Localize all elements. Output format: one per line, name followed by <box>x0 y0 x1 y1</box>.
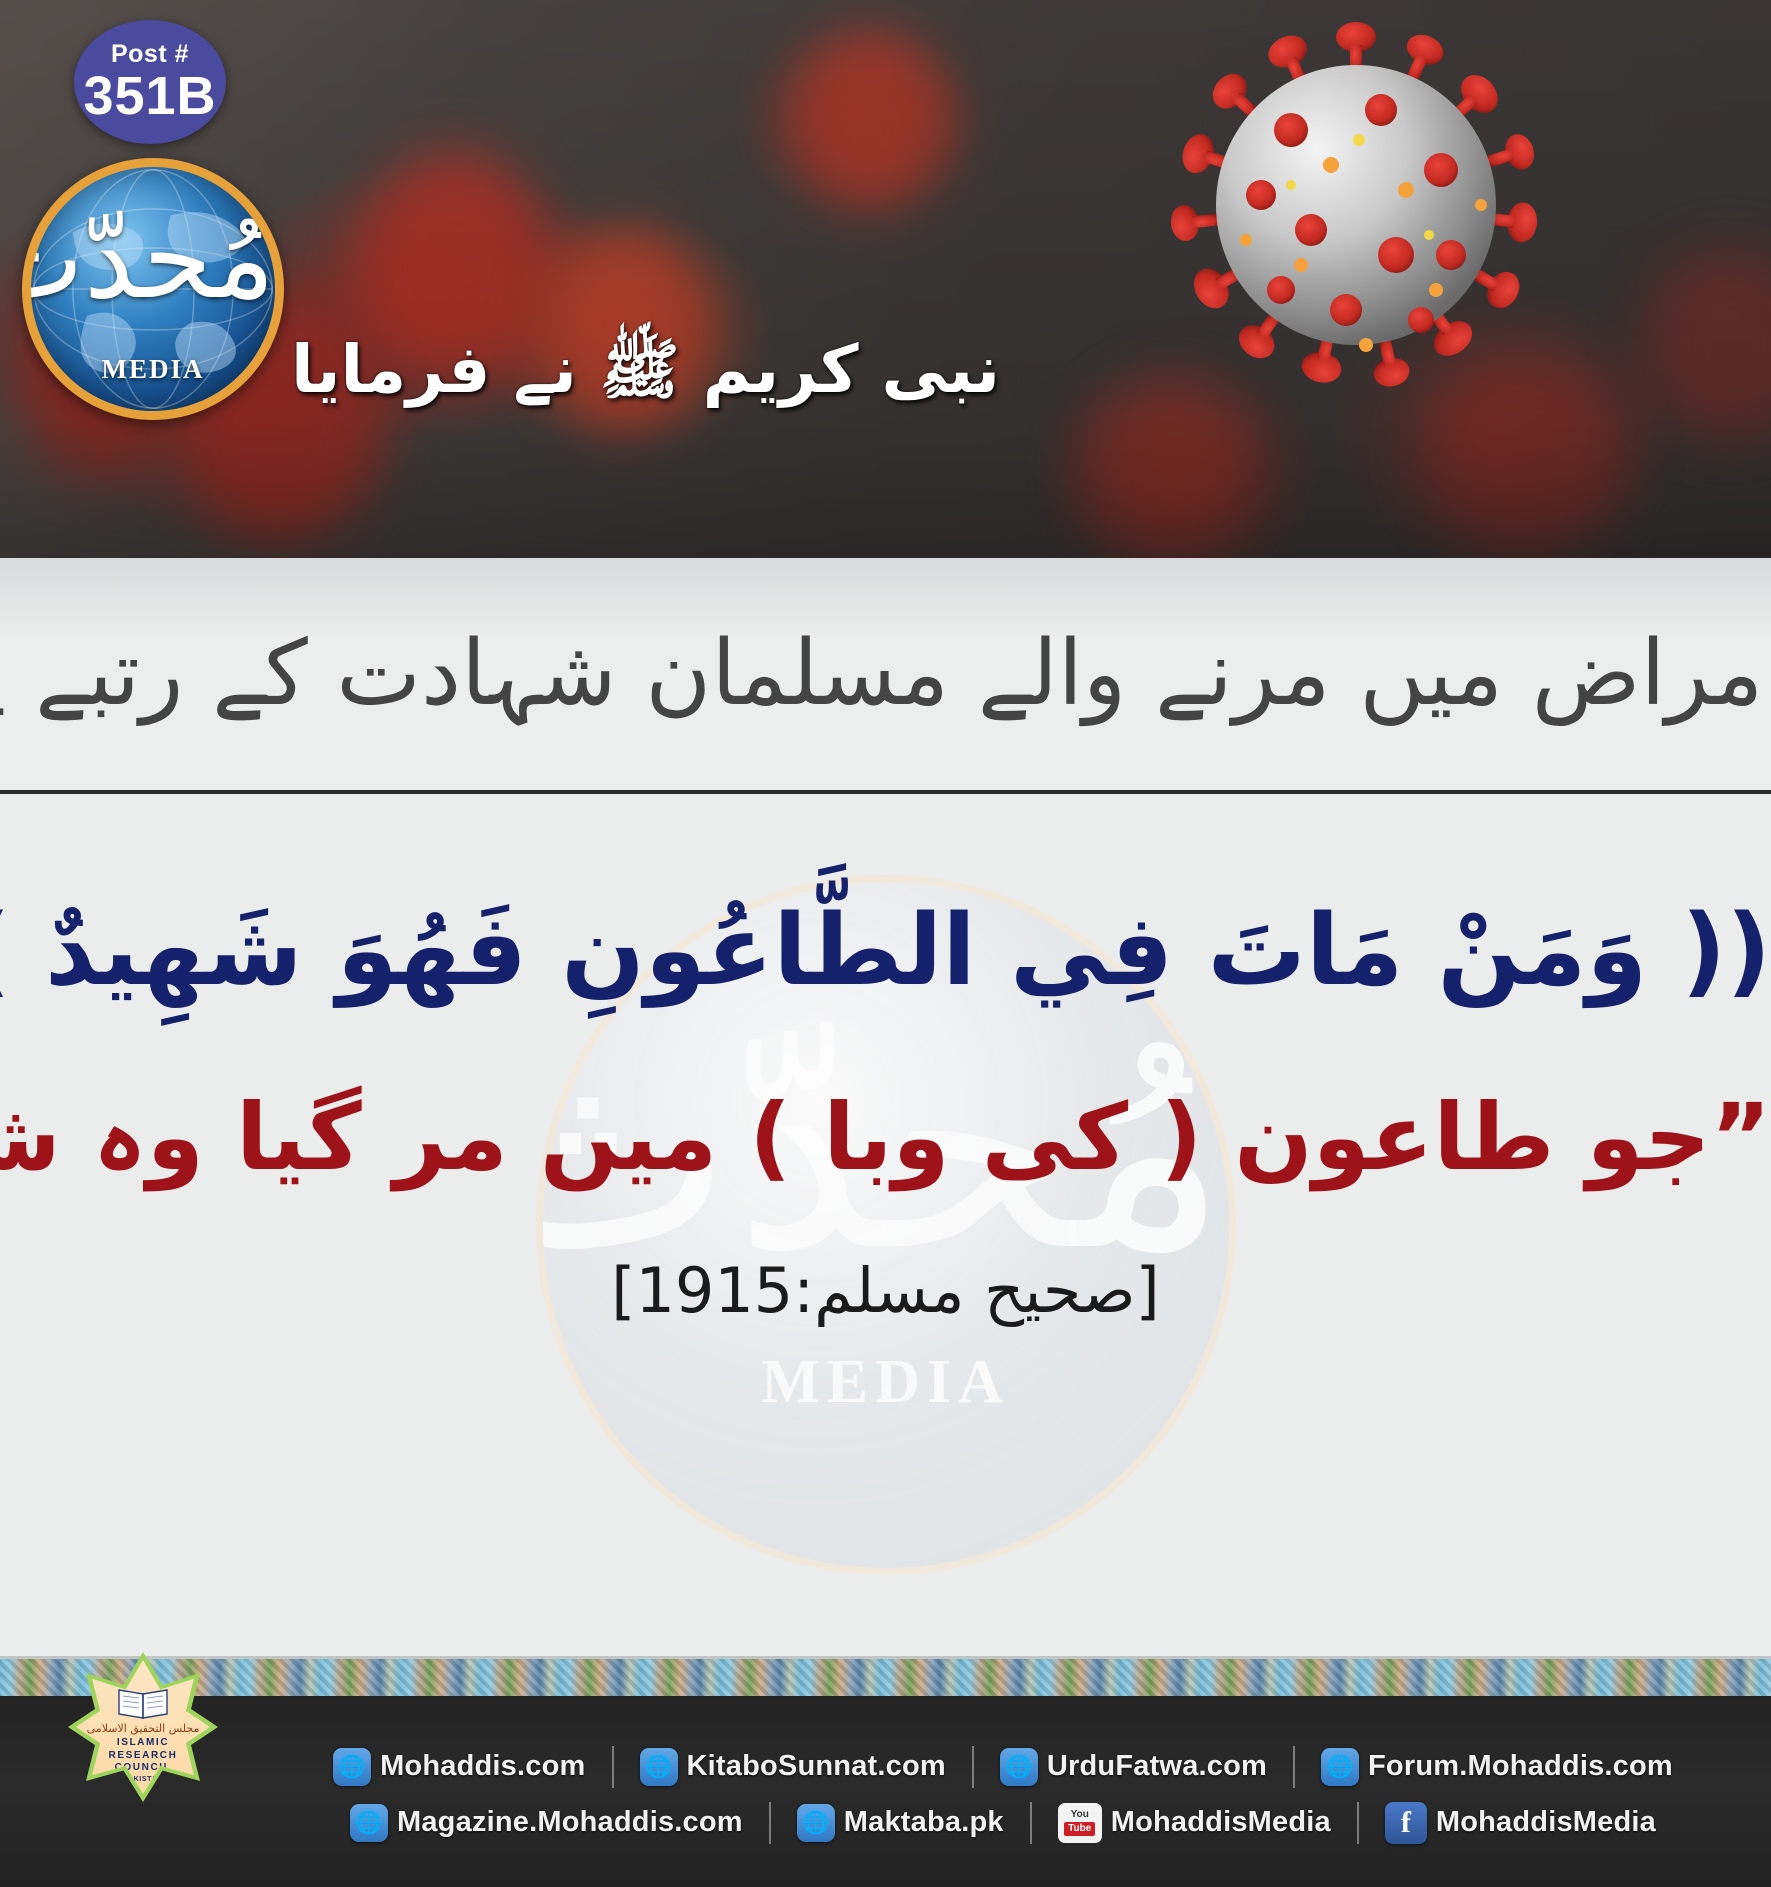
header-banner: Post # 351B مُحدّث <box>0 0 1771 558</box>
council-inner-panel: مجلس التحقیق الاسلامی ISLAMIC RESEARCH C… <box>76 1660 210 1794</box>
facebook-icon: f <box>1385 1802 1427 1844</box>
footer-link-label: Mohaddis.com <box>380 1750 585 1783</box>
footer-link-mohaddis[interactable]: 🌐 Mohaddis.com <box>307 1748 611 1786</box>
council-line-1: ISLAMIC <box>117 1737 169 1748</box>
footer-link-label: KitaboSunnat.com <box>687 1750 946 1783</box>
hadith-arabic-text: (( وَمَنْ مَاتَ فِي الطَّاعُونِ فَهُوَ ش… <box>0 894 1771 1008</box>
council-line-2: RESEARCH <box>109 1750 178 1761</box>
post-number-badge: Post # 351B <box>74 20 226 144</box>
logo-arabic-glyph: مُحدّث <box>31 203 275 315</box>
footer-link-facebook[interactable]: f MohaddisMedia <box>1359 1802 1682 1844</box>
globe-icon: 🌐 <box>640 1748 678 1786</box>
footer-link-urdufatwa[interactable]: 🌐 UrduFatwa.com <box>974 1748 1293 1786</box>
open-book-icon <box>115 1686 171 1720</box>
footer-link-row-1: 🌐 Mohaddis.com 🌐 KitaboSunnat.com 🌐 Urdu… <box>235 1746 1771 1788</box>
footer-link-label: Magazine.Mohaddis.com <box>397 1806 743 1839</box>
globe-icon: 🌐 <box>797 1804 835 1842</box>
footer-separator <box>972 1746 974 1788</box>
footer-link-label: MohaddisMedia <box>1111 1806 1331 1839</box>
globe-icon: 🌐 <box>1321 1748 1359 1786</box>
footer-link-label: UrduFatwa.com <box>1047 1750 1267 1783</box>
hadith-citation: [صحیح مسلم:1915] <box>0 1254 1771 1327</box>
youtube-icon-bottom: Tube <box>1064 1822 1095 1836</box>
council-arabic-name: مجلس التحقیق الاسلامی <box>87 1722 200 1735</box>
footer-separator <box>612 1746 614 1788</box>
footer-link-row-2: 🌐 Magazine.Mohaddis.com 🌐 Maktaba.pk You… <box>235 1802 1771 1844</box>
headline-strip: وبائی امراض میں مرنے والے مسلمان شہادت ک… <box>0 558 1771 794</box>
footer-link-label: MohaddisMedia <box>1436 1806 1656 1839</box>
youtube-icon: You Tube <box>1058 1803 1102 1843</box>
youtube-icon-top: You <box>1071 1810 1089 1820</box>
page-title: وبائی امراض میں مرنے والے مسلمان شہادت ک… <box>0 622 1771 726</box>
content-area: مُحدّث MEDIA (( وَمَنْ مَاتَ فِي الطَّاع… <box>0 794 1771 1656</box>
footer-link-label: Maktaba.pk <box>844 1806 1004 1839</box>
footer-separator <box>1293 1746 1295 1788</box>
footer-separator <box>769 1802 771 1844</box>
header-hadith-intro: نبی کریم ﷺ نے فرمایا <box>0 330 1771 425</box>
footer-link-label: Forum.Mohaddis.com <box>1368 1750 1673 1783</box>
post-number: 351B <box>83 69 216 123</box>
footer-links: 🌐 Mohaddis.com 🌐 KitaboSunnat.com 🌐 Urdu… <box>235 1696 1771 1887</box>
footer-link-forum[interactable]: 🌐 Forum.Mohaddis.com <box>1295 1748 1699 1786</box>
footer-bar: مجلس التحقیق الاسلامی ISLAMIC RESEARCH C… <box>0 1696 1771 1887</box>
footer-link-magazine[interactable]: 🌐 Magazine.Mohaddis.com <box>324 1804 769 1842</box>
virus-blur-blob <box>790 30 950 210</box>
globe-icon: 🌐 <box>1000 1748 1038 1786</box>
footer-link-maktaba[interactable]: 🌐 Maktaba.pk <box>771 1804 1030 1842</box>
footer-separator <box>1030 1802 1032 1844</box>
footer-link-kitabosunnat[interactable]: 🌐 KitaboSunnat.com <box>614 1748 972 1786</box>
post-label: Post # <box>111 42 189 67</box>
footer-link-youtube[interactable]: You Tube MohaddisMedia <box>1032 1803 1357 1843</box>
globe-icon: 🌐 <box>333 1748 371 1786</box>
watermark-media-word: MEDIA <box>543 1347 1229 1418</box>
globe-icon: 🌐 <box>350 1804 388 1842</box>
islamic-research-council-logo: مجلس التحقیق الاسلامی ISLAMIC RESEARCH C… <box>60 1648 230 1808</box>
hadith-urdu-translation: ”جو طاعون ( کی وبا ) میں مر گیا وہ شہید … <box>0 1084 1771 1191</box>
footer-separator <box>1357 1802 1359 1844</box>
decorative-border <box>0 1656 1771 1701</box>
poster-root: Post # 351B مُحدّث <box>0 0 1771 1887</box>
